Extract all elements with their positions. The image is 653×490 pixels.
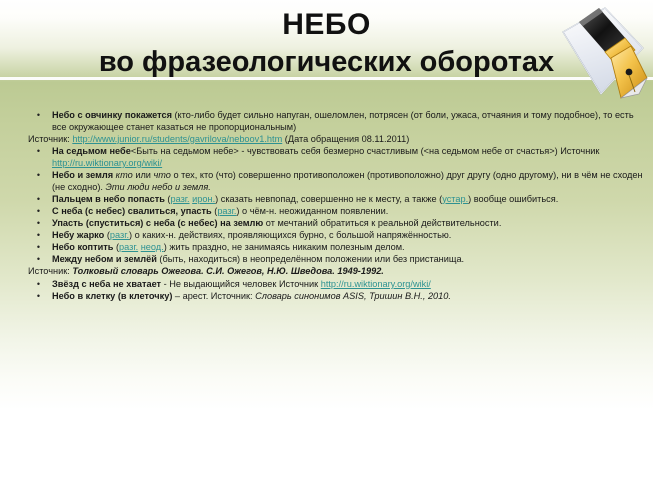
bullet-marker: • xyxy=(0,206,52,218)
entry-definition: кто или что о тех, кто (что) совершенно … xyxy=(52,170,643,192)
entry-term: На седьмом небе xyxy=(52,146,131,156)
list-item: • На седьмом небе<Быть на седьмом небе> … xyxy=(0,146,653,169)
source-link-junior[interactable]: http://www.junior.ru/students/gavrilova/… xyxy=(72,134,282,144)
list-item: • Небо в клетку (в клеточку) – арест. Ис… xyxy=(0,291,653,303)
entry-term: Небо и земля xyxy=(52,170,113,180)
list-item: • Пальцем в небо попасть (разг. ирон.) с… xyxy=(0,194,653,206)
entry-text: Пальцем в небо попасть (разг. ирон.) ска… xyxy=(52,194,645,206)
fountain-pen-document-icon xyxy=(543,2,651,106)
entry-text: Небо с овчинку покажется (кто-либо будет… xyxy=(52,110,645,133)
entry-definition: (быть, находиться) в неопределённом поло… xyxy=(157,254,464,264)
entry-text: Упасть (спуститься) с неба (с небес) на … xyxy=(52,218,645,230)
entry-text: На седьмом небе<Быть на седьмом небе> - … xyxy=(52,146,645,169)
entry-text: Небо и земля кто или что о тех, кто (что… xyxy=(52,170,645,193)
bullet-marker: • xyxy=(0,230,52,242)
bullet-marker: • xyxy=(0,194,52,206)
entry-definition: – арест. Источник: Словарь синонимов ASI… xyxy=(172,291,451,301)
list-item: • Упасть (спуститься) с неба (с небес) н… xyxy=(0,218,653,230)
entry-definition: - Не выдающийся человек Источник xyxy=(161,279,321,289)
entry-term: Небо в клетку (в клеточку) xyxy=(52,291,172,301)
entry-term: Пальцем в небо попасть xyxy=(52,194,165,204)
source-label: Источник: xyxy=(28,266,72,276)
list-item: • Между небом и землёй (быть, находиться… xyxy=(0,254,653,266)
list-item: • С неба (с небес) свалиться, упасть (ра… xyxy=(0,206,653,218)
list-item: • Небо с овчинку покажется (кто-либо буд… xyxy=(0,110,653,133)
bullet-marker: • xyxy=(0,291,52,303)
entry-text: С неба (с небес) свалиться, упасть (разг… xyxy=(52,206,645,218)
source-line-1: Источник: http://www.junior.ru/students/… xyxy=(0,134,653,146)
entry-term: Упасть (спуститься) с неба (с небес) на … xyxy=(52,218,263,228)
entry-definition: (разг.) о каких-н. действиях, проявляющи… xyxy=(104,230,451,240)
list-item: • Небу жарко (разг.) о каких-н. действия… xyxy=(0,230,653,242)
bullet-marker: • xyxy=(0,218,52,230)
entry-text: Небо в клетку (в клеточку) – арест. Исто… xyxy=(52,291,645,303)
bullet-marker: • xyxy=(0,254,52,266)
entry-link-wiktionary[interactable]: http://ru.wiktionary.org/wiki/ xyxy=(321,279,431,289)
list-item: • Звёзд с неба не хватает - Не выдающийс… xyxy=(0,279,653,291)
list-item: • Небо и земля кто или что о тех, кто (ч… xyxy=(0,170,653,193)
entry-definition: (разг. ирон.) сказать невпопад, совершен… xyxy=(165,194,558,204)
phraseology-list: • Небо с овчинку покажется (кто-либо буд… xyxy=(0,110,653,303)
bullet-marker: • xyxy=(0,146,52,158)
source-access-date: (Дата обращения 08.11.2011) xyxy=(282,134,409,144)
entry-definition: от мечтаний обратиться к реальной действ… xyxy=(263,218,501,228)
source-citation: Толковый словарь Ожегова. С.И. Ожегов, Н… xyxy=(72,266,384,276)
entry-term: Звёзд с неба не хватает xyxy=(52,279,161,289)
entry-term: С неба (с небес) свалиться, упасть xyxy=(52,206,212,216)
entry-link-wiktionary[interactable]: http://ru.wiktionary.org/wiki/ xyxy=(52,158,162,168)
bullet-marker: • xyxy=(0,170,52,182)
entry-text: Звёзд с неба не хватает - Не выдающийся … xyxy=(52,279,645,291)
entry-text: Небу жарко (разг.) о каких-н. действиях,… xyxy=(52,230,645,242)
source-label: Источник: xyxy=(28,134,72,144)
bullet-marker: • xyxy=(0,242,52,254)
entry-term: Небу жарко xyxy=(52,230,104,240)
entry-term: Небо коптить xyxy=(52,242,113,252)
source-line-2: Источник: Толковый словарь Ожегова. С.И.… xyxy=(0,266,653,278)
entry-definition: <Быть на седьмом небе> - чувствовать себ… xyxy=(131,146,600,156)
entry-text: Между небом и землёй (быть, находиться) … xyxy=(52,254,645,266)
entry-definition: (разг.) о чём-н. неожиданном появлении. xyxy=(212,206,389,216)
entry-definition: (разг. неод.) жить праздно, не занимаясь… xyxy=(113,242,404,252)
list-item: • Небо коптить (разг. неод.) жить праздн… xyxy=(0,242,653,254)
entry-term: Между небом и землёй xyxy=(52,254,157,264)
entry-text: Небо коптить (разг. неод.) жить праздно,… xyxy=(52,242,645,254)
bullet-marker: • xyxy=(0,279,52,291)
entry-term: Небо с овчинку покажется xyxy=(52,110,172,120)
bullet-marker: • xyxy=(0,110,52,122)
